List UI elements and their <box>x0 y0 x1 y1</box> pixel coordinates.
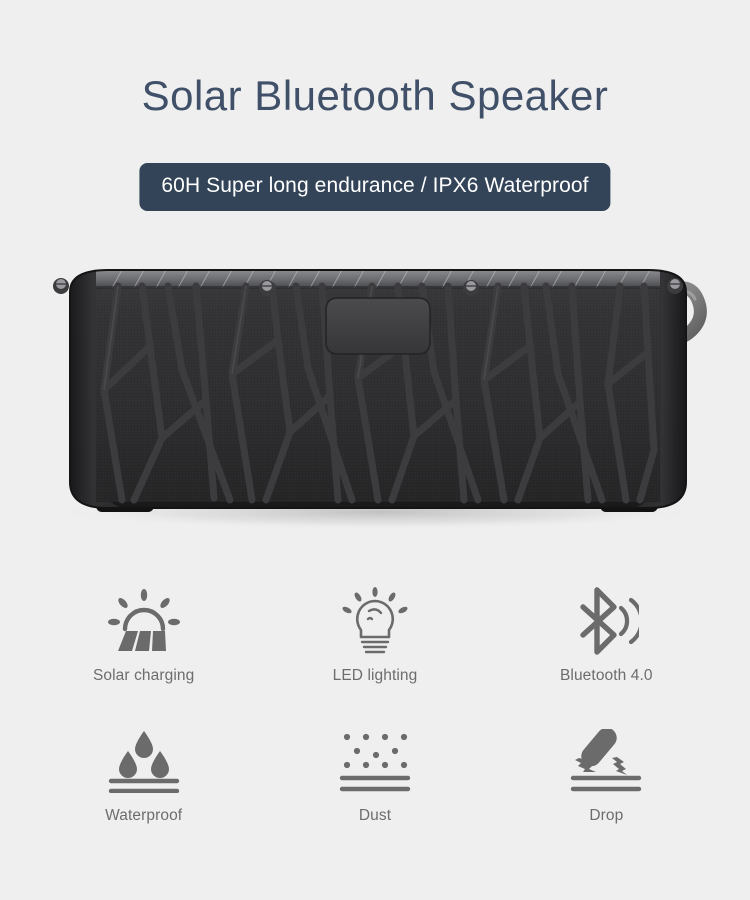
spec-banner: 60H Super long endurance / IPX6 Waterpro… <box>139 163 610 211</box>
feature-bluetooth: Bluetooth 4.0 <box>491 585 722 725</box>
product-image <box>0 250 750 550</box>
page-title: Solar Bluetooth Speaker <box>0 72 750 119</box>
led-bulb-icon <box>339 585 411 657</box>
solar-charging-icon <box>105 585 183 657</box>
feature-dust: Dust <box>259 725 490 865</box>
feature-label: Bluetooth 4.0 <box>560 667 653 685</box>
feature-grid: Solar charging <box>28 585 722 865</box>
product-feature-page: Solar Bluetooth Speaker 60H Super long e… <box>0 0 750 900</box>
feature-waterproof: Waterproof <box>28 725 259 865</box>
bluetooth-icon <box>573 585 639 657</box>
feature-drop: Drop <box>491 725 722 865</box>
dustproof-dots-icon <box>334 725 416 797</box>
feature-label: Drop <box>589 807 623 825</box>
drop-impact-icon <box>565 725 647 797</box>
speaker-illustration <box>0 250 750 550</box>
feature-label: Dust <box>359 807 391 825</box>
feature-solar-charging: Solar charging <box>28 585 259 725</box>
control-pad[interactable] <box>326 298 430 354</box>
feature-label: Solar charging <box>93 667 194 685</box>
feature-led-lighting: LED lighting <box>259 585 490 725</box>
feature-label: Waterproof <box>105 807 182 825</box>
waterproof-droplet-icon <box>103 725 185 797</box>
feature-label: LED lighting <box>333 667 418 685</box>
